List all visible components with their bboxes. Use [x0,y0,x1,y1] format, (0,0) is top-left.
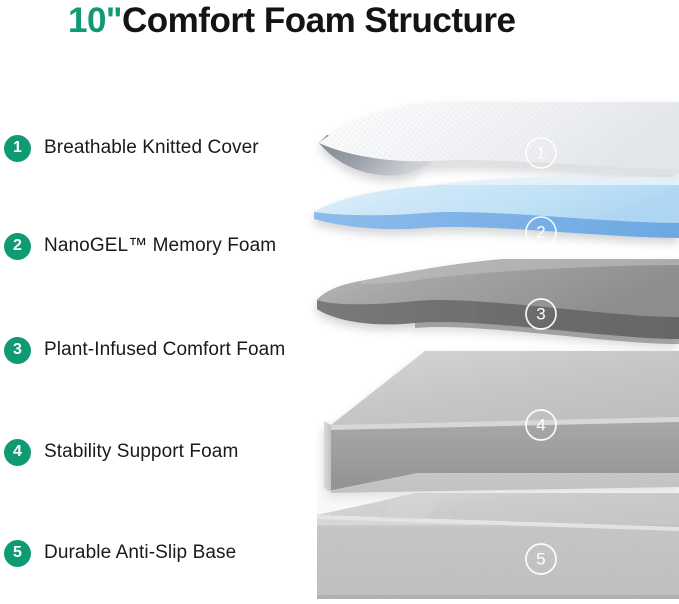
legend-label-1: Breathable Knitted Cover [44,137,259,159]
layer-5-durable-anti-slip-base [305,465,679,604]
layer-marker-3-text: 3 [536,305,545,324]
legend-item-5: 5 Durable Anti-Slip Base [4,538,236,568]
legend-label-2: NanoGEL™ Memory Foam [44,235,276,257]
legend-label-5: Durable Anti-Slip Base [44,542,236,564]
legend-item-3: 3 Plant-Infused Comfort Foam [4,335,285,365]
layer-marker-4-text: 4 [536,416,545,435]
legend-item-1: 1 Breathable Knitted Cover [4,133,259,163]
layer-2-nanogel-memory-foam [314,177,679,238]
layer-4-stability-support-foam [324,351,679,493]
layer-3-plant-infused-comfort-foam [317,259,679,344]
legend-item-2: 2 NanoGEL™ Memory Foam [4,231,276,261]
legend-label-3: Plant-Infused Comfort Foam [44,339,285,361]
legend-label-4: Stability Support Foam [44,441,238,463]
page-title-text: Comfort Foam Structure [122,1,515,40]
legend-badge-4: 4 [4,439,31,466]
page-title: 10"Comfort Foam Structure [68,1,516,41]
legend-item-4: 4 Stability Support Foam [4,437,238,467]
layer-marker-1-text: 1 [536,144,545,163]
legend-badge-1: 1 [4,135,31,162]
layer-1-breathable-knitted-cover [319,102,679,176]
legend-badge-2: 2 [4,233,31,260]
layer-marker-2-text: 2 [536,223,545,242]
mattress-layer-illustration: 1 2 [305,95,679,604]
legend-badge-5: 5 [4,540,31,567]
legend-badge-3: 3 [4,337,31,364]
mattress-height-value: 10" [68,1,122,40]
layer-marker-5-text: 5 [536,550,545,569]
infographic-page: 10"Comfort Foam Structure 1 Breathable K… [0,0,679,604]
